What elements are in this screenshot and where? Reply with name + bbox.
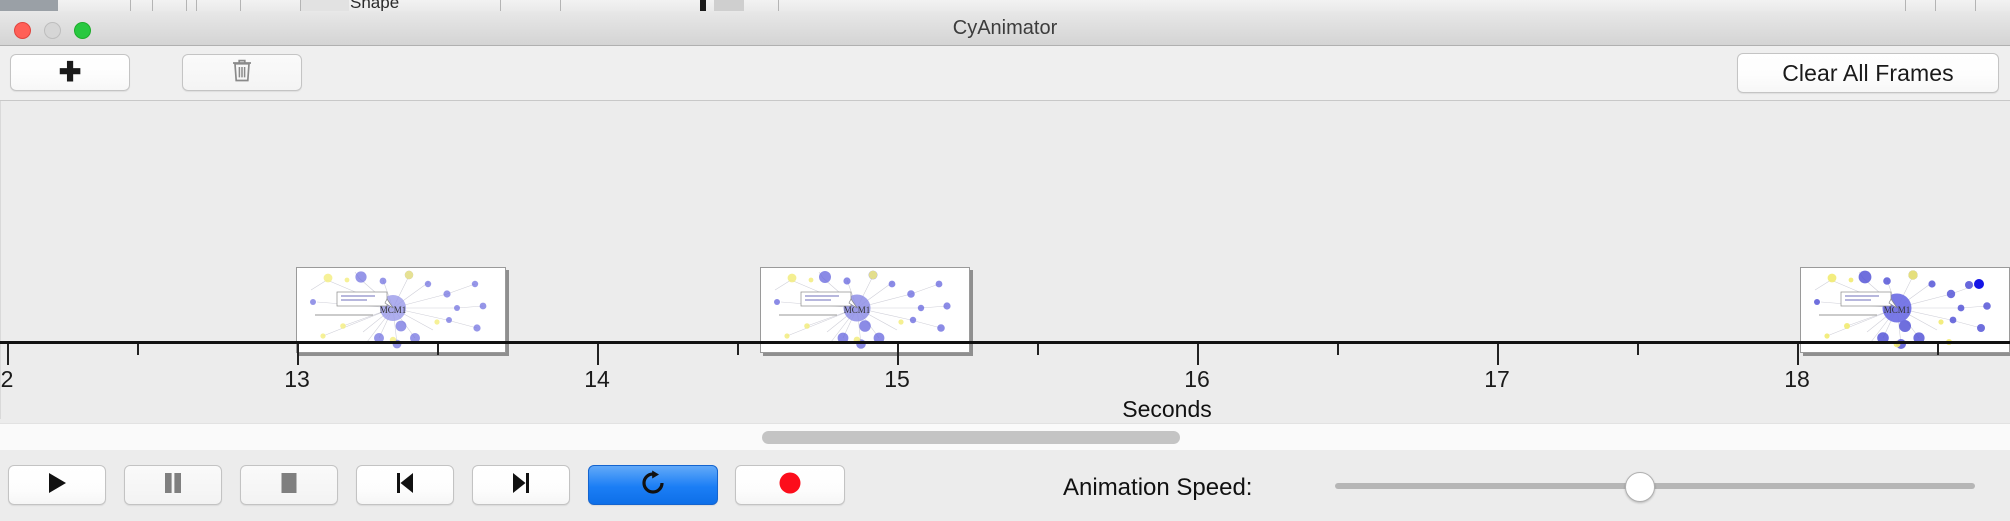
- stop-button[interactable]: [240, 465, 338, 505]
- svg-text:MCM1: MCM1: [380, 305, 407, 315]
- add-frame-button[interactable]: ✚: [10, 54, 130, 91]
- play-button[interactable]: [8, 465, 106, 505]
- title-bar: CyAnimator: [0, 11, 2010, 46]
- axis-tick-label: 14: [584, 366, 610, 393]
- pause-button[interactable]: [124, 465, 222, 505]
- svg-text:MCM1: MCM1: [844, 305, 871, 315]
- record-icon: [778, 471, 802, 500]
- axis-tick-label: 18: [1784, 366, 1810, 393]
- horizontal-scrollbar[interactable]: [0, 423, 2010, 451]
- axis-tick-label: 2: [1, 366, 14, 393]
- axis-baseline: [0, 341, 2010, 344]
- animation-speed-slider-track[interactable]: [1335, 483, 1975, 489]
- playback-controls: Animation Speed:: [0, 450, 2010, 521]
- skip-previous-icon: [394, 471, 416, 500]
- axis-tick-label: 13: [284, 366, 310, 393]
- stop-icon: [278, 471, 300, 500]
- record-button[interactable]: [735, 465, 845, 505]
- animation-speed-slider-thumb[interactable]: [1625, 472, 1655, 502]
- window-title: CyAnimator: [0, 17, 2010, 40]
- frame-toolbar: ✚ Clear All Frames: [0, 46, 2010, 101]
- scrollbar-thumb[interactable]: [762, 431, 1180, 444]
- animation-speed-label: Animation Speed:: [1063, 474, 1252, 502]
- clear-all-frames-button[interactable]: Clear All Frames: [1737, 53, 1999, 93]
- trash-icon: [231, 58, 253, 88]
- pause-icon: [162, 471, 184, 500]
- previous-frame-button[interactable]: [356, 465, 454, 505]
- loop-icon: [640, 470, 666, 501]
- skip-next-icon: [510, 471, 532, 500]
- play-icon: [46, 471, 68, 500]
- timeline-axis: 2 13 14 15 16 17 18 Seconds: [0, 341, 2010, 419]
- plus-icon: ✚: [59, 59, 82, 86]
- delete-frame-button[interactable]: [182, 54, 302, 91]
- svg-text:MCM1: MCM1: [1884, 305, 1911, 315]
- next-frame-button[interactable]: [472, 465, 570, 505]
- axis-tick-label: 17: [1484, 366, 1510, 393]
- axis-title: Seconds: [1122, 396, 1212, 419]
- axis-tick-label: 15: [884, 366, 910, 393]
- loop-button[interactable]: [588, 465, 718, 505]
- timeline-panel[interactable]: MCM1: [0, 101, 2010, 419]
- axis-tick-label: 16: [1184, 366, 1210, 393]
- cyanimator-window: CyAnimator ✚ Clear All Frames: [0, 11, 2010, 510]
